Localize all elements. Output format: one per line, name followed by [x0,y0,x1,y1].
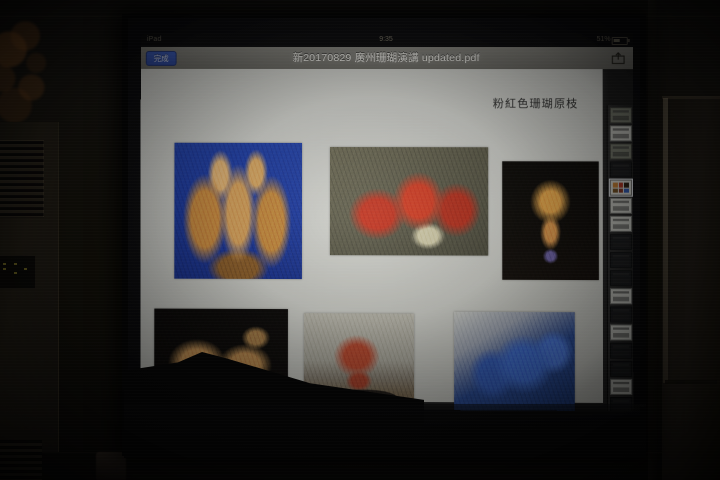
thumbnail-photo-cell [613,183,618,188]
photo-tan-coral-branches-blue-water [174,143,302,279]
thumbnail-photo-cell [624,188,629,193]
ios-status-bar: iPad 9:35 51% [141,33,633,47]
thumbnail-page-16[interactable] [610,379,632,395]
share-icon[interactable] [612,52,625,64]
thumbnail-content [613,219,629,229]
thumbnail-page-11[interactable] [610,288,632,304]
thumbnail-page-14[interactable] [610,343,632,359]
thumbnail-page-5[interactable] [610,180,632,196]
door-frame-edge [663,98,668,383]
pdf-viewer-toolbar: 完成 新20170829 廣州珊瑚演講 updated.pdf [141,47,633,70]
status-clock: 9:35 [141,33,633,47]
scroll-knob[interactable] [143,384,162,403]
waste-bin [96,452,126,480]
ac-led-4 [14,272,17,274]
pdf-slide: 粉紅色珊瑚原枝 [140,69,603,403]
photo-golden-fan-coral-black-background [502,161,599,280]
thumbnail-page-15[interactable] [610,361,632,377]
photo-texture [154,309,288,406]
photo-texture [502,161,599,280]
door-header [662,96,720,99]
thumbnail-page-2[interactable] [610,125,632,141]
room-scene: iPad 9:35 51% 完成 新20170829 廣州珊瑚演講 update… [0,0,720,480]
battery-fill [614,39,620,42]
ac-led-5 [24,268,27,270]
photo-texture [330,147,488,256]
thumbnail-content [613,255,629,265]
wall-pillar-right [648,0,657,480]
thumbnail-page-12[interactable] [610,306,632,322]
thumbnail-content [613,201,629,211]
photo-texture [304,313,414,411]
thumbnail-photo-cell [624,183,629,188]
photo-red-coral-on-rock [330,147,488,256]
thumbnail-content [613,273,629,283]
thumbnail-content [613,128,629,138]
thumbnail-page-9[interactable] [610,252,632,268]
thumbnail-content [613,146,629,156]
thumbnail-content [613,400,629,410]
thumbnail-page-3[interactable] [610,143,632,159]
photo-tan-coral-cluster-black-background [154,309,288,406]
thumbnail-page-1[interactable] [610,107,632,123]
ac-control-panel[interactable] [0,255,36,289]
thumbnail-photo-cell [613,188,618,193]
thumbnail-page-8[interactable] [610,234,632,250]
thumbnail-preview [613,183,629,193]
potted-plant [0,18,62,130]
photo-texture [174,143,302,279]
photo-blue-coral-closeup [454,312,575,411]
thumbnail-content [613,291,629,301]
ac-led-3 [14,263,17,265]
ipad-app-window: iPad 9:35 51% 完成 新20170829 廣州珊瑚演講 update… [140,33,633,411]
thumbnail-page-17[interactable] [610,397,632,411]
photo-texture [454,312,575,411]
thumbnail-content [613,309,629,319]
thumbnail-content [613,110,629,120]
thumbnail-content [613,346,629,356]
status-battery-percent: 51% [597,33,611,47]
ac-vent-grille-lower [0,440,42,480]
ac-led-1 [3,263,6,265]
ac-led-2 [3,268,6,270]
thumbnail-page-4[interactable] [610,161,632,177]
thumbnail-page-7[interactable] [610,216,632,232]
document-title: 新20170829 廣州珊瑚演講 updated.pdf [141,47,633,69]
battery-icon [612,37,628,45]
door[interactable] [662,96,720,480]
thumbnail-photo-cell [619,188,624,193]
thumbnail-content [613,327,629,337]
door-threshold [665,380,717,384]
thumbnail-content [613,237,629,247]
pdf-page-area[interactable]: 粉紅色珊瑚原枝 [140,69,633,411]
thumbnail-content [613,382,629,392]
thumbnail-content [613,364,629,374]
ac-vent-grille-upper [0,140,44,218]
page-thumbnail-strip[interactable] [607,105,634,411]
thumbnail-photo-cell [619,183,624,188]
thumbnail-page-13[interactable] [610,324,632,340]
thumbnail-content [613,165,629,175]
thumbnail-page-6[interactable] [610,198,632,214]
photo-red-coral-specimen-on-stand [304,313,414,411]
slide-heading: 粉紅色珊瑚原枝 [493,95,579,111]
thumbnail-page-10[interactable] [610,270,632,286]
